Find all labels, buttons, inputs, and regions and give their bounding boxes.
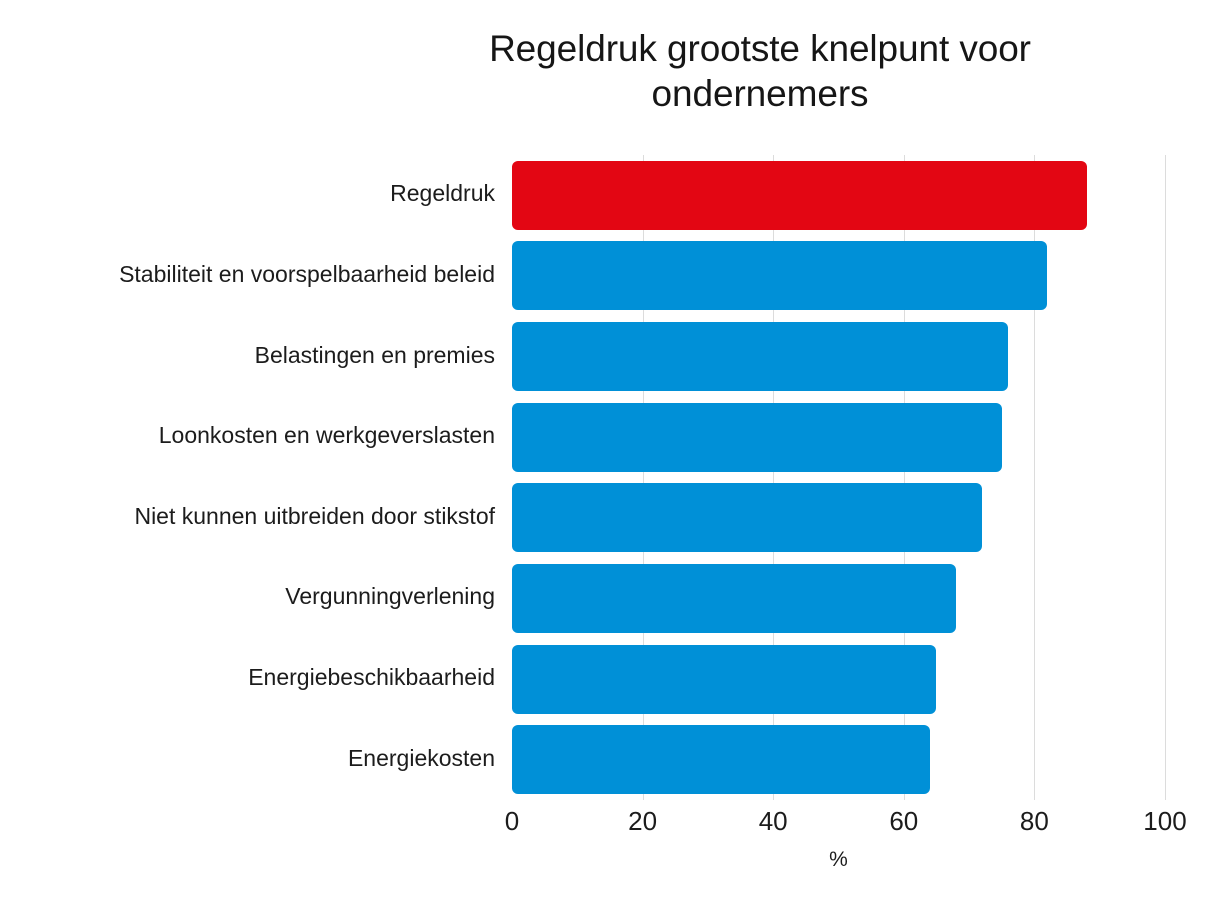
bar[interactable] [512,322,1008,391]
bar[interactable] [512,564,956,633]
bar-band [512,403,1165,472]
y-axis-category-labels: RegeldrukStabiliteit en voorspelbaarheid… [0,155,495,800]
bar[interactable] [512,725,930,794]
bar[interactable] [512,403,1002,472]
bar-chart: Regeldruk grootste knelpunt voor onderne… [0,0,1220,915]
y-axis-label: Energiekosten [0,745,495,772]
y-axis-label: Loonkosten en werkgeverslasten [0,422,495,449]
x-axis-tick-labels: 020406080100 [512,806,1165,846]
bar[interactable] [512,645,936,714]
x-axis-tick: 100 [1143,806,1186,837]
bar-band [512,322,1165,391]
x-axis-tick: 0 [505,806,519,837]
y-axis-label: Regeldruk [0,180,495,207]
bar-band [512,645,1165,714]
chart-title-line-1: Regeldruk grootste knelpunt voor [330,26,1190,71]
x-axis-tick: 60 [889,806,918,837]
bar[interactable] [512,483,982,552]
bar-band [512,161,1165,230]
chart-title: Regeldruk grootste knelpunt voor onderne… [330,26,1190,116]
y-axis-label: Stabiliteit en voorspelbaarheid beleid [0,261,495,288]
bars-layer [512,155,1165,800]
y-axis-label: Energiebeschikbaarheid [0,664,495,691]
bar[interactable] [512,241,1047,310]
y-axis-label: Belastingen en premies [0,342,495,369]
bar-band [512,483,1165,552]
bar[interactable] [512,161,1087,230]
y-axis-label: Niet kunnen uitbreiden door stikstof [0,503,495,530]
x-axis-tick: 40 [759,806,788,837]
x-axis-tick: 20 [628,806,657,837]
y-axis-label: Vergunningverlening [0,583,495,610]
gridline [1165,155,1166,800]
bar-band [512,241,1165,310]
plot-area [512,155,1165,800]
x-axis-tick: 80 [1020,806,1049,837]
bar-band [512,725,1165,794]
chart-title-line-2: ondernemers [330,71,1190,116]
bar-band [512,564,1165,633]
x-axis-title: % [512,848,1165,872]
